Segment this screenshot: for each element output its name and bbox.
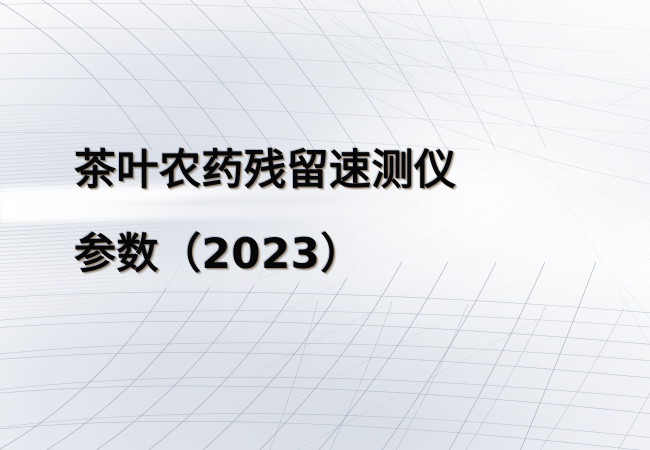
banner-image: 茶叶农药残留速测仪 参数（2023） — [0, 0, 650, 450]
title-line-2: 参数（2023） — [74, 212, 544, 296]
title-line-1: 茶叶农药残留速测仪 — [74, 128, 544, 212]
banner-title: 茶叶农药残留速测仪 参数（2023） — [74, 128, 544, 296]
